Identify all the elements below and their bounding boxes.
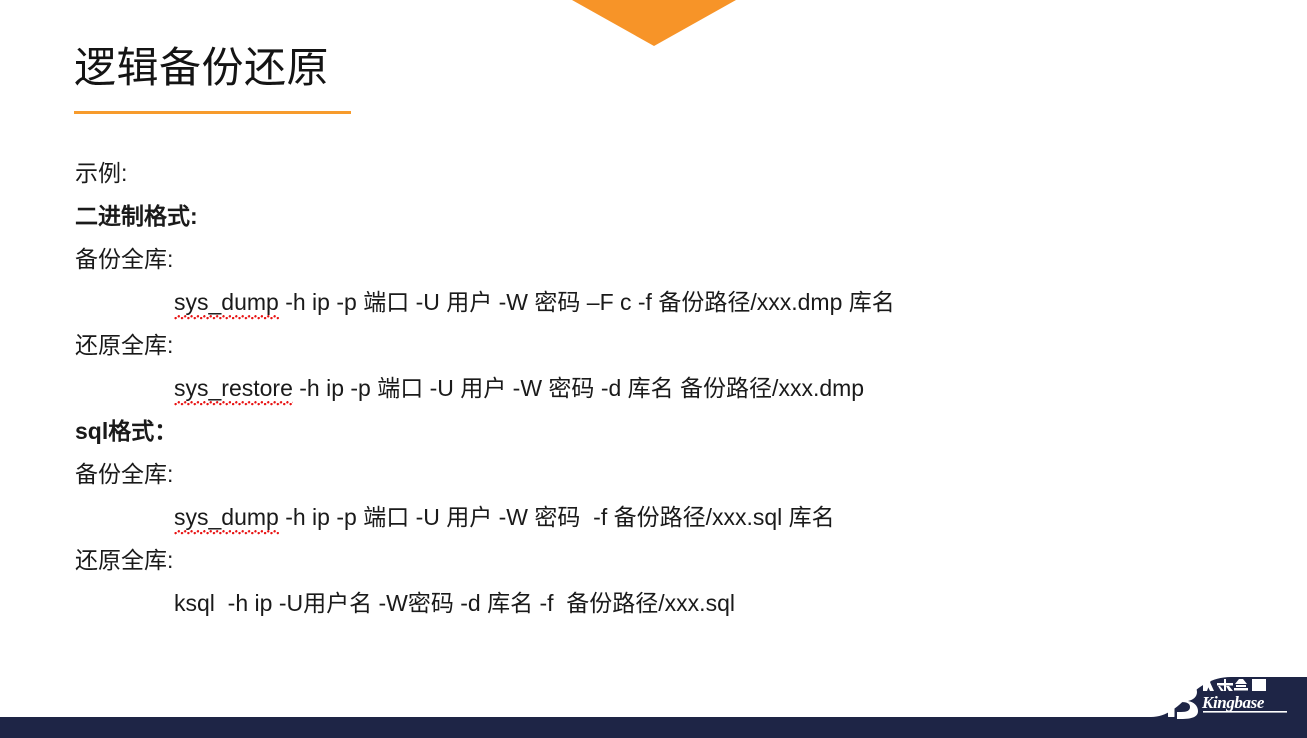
kingbase-logo: Kingbase <box>1167 675 1289 721</box>
ksql-keyword: ksql <box>174 590 215 616</box>
svg-text:Kingbase: Kingbase <box>1201 693 1265 712</box>
sql-backup-command-args: -h ip -p 端口 -U 用户 -W 密码 -f 备份路径/xxx.sql … <box>279 504 835 530</box>
binary-restore-command: sys_restore -h ip -p 端口 -U 用户 -W 密码 -d 库… <box>75 367 1267 410</box>
binary-backup-command-args: -h ip -p 端口 -U 用户 -W 密码 –F c -f 备份路径/xxx… <box>279 289 895 315</box>
binary-restore-label: 还原全库: <box>75 324 1267 367</box>
sql-restore-command: ksql -h ip -U用户名 -W密码 -d 库名 -f 备份路径/xxx.… <box>75 582 1267 625</box>
example-label: 示例: <box>75 152 1267 195</box>
sys-restore-keyword: sys_restore <box>174 375 293 406</box>
logo-chinese-characters <box>1203 679 1266 691</box>
slide-canvas: 逻辑备份还原 示例: 二进制格式: 备份全库: sys_dump -h ip -… <box>0 0 1307 738</box>
sql-backup-command: sys_dump -h ip -p 端口 -U 用户 -W 密码 -f 备份路径… <box>75 496 1267 539</box>
sql-backup-label: 备份全库: <box>75 453 1267 496</box>
page-title: 逻辑备份还原 <box>74 44 974 92</box>
sql-restore-command-args: -h ip -U用户名 -W密码 -d 库名 -f 备份路径/xxx.sql <box>215 590 735 616</box>
sys-dump-keyword: sys_dump <box>174 289 279 320</box>
binary-backup-label: 备份全库: <box>75 238 1267 281</box>
sql-format-heading: sql格式： <box>75 410 1267 453</box>
top-triangle-decoration <box>572 0 736 46</box>
binary-backup-command: sys_dump -h ip -p 端口 -U 用户 -W 密码 –F c -f… <box>75 281 1267 324</box>
slide-body: 示例: 二进制格式: 备份全库: sys_dump -h ip -p 端口 -U… <box>75 152 1267 625</box>
binary-restore-command-args: -h ip -p 端口 -U 用户 -W 密码 -d 库名 备份路径/xxx.d… <box>293 375 864 401</box>
binary-format-heading: 二进制格式: <box>75 195 1267 238</box>
sql-restore-label: 还原全库: <box>75 539 1267 582</box>
title-underline-rule <box>74 111 351 114</box>
title-block: 逻辑备份还原 <box>74 44 974 114</box>
sys-dump-keyword-sql: sys_dump <box>174 504 279 535</box>
